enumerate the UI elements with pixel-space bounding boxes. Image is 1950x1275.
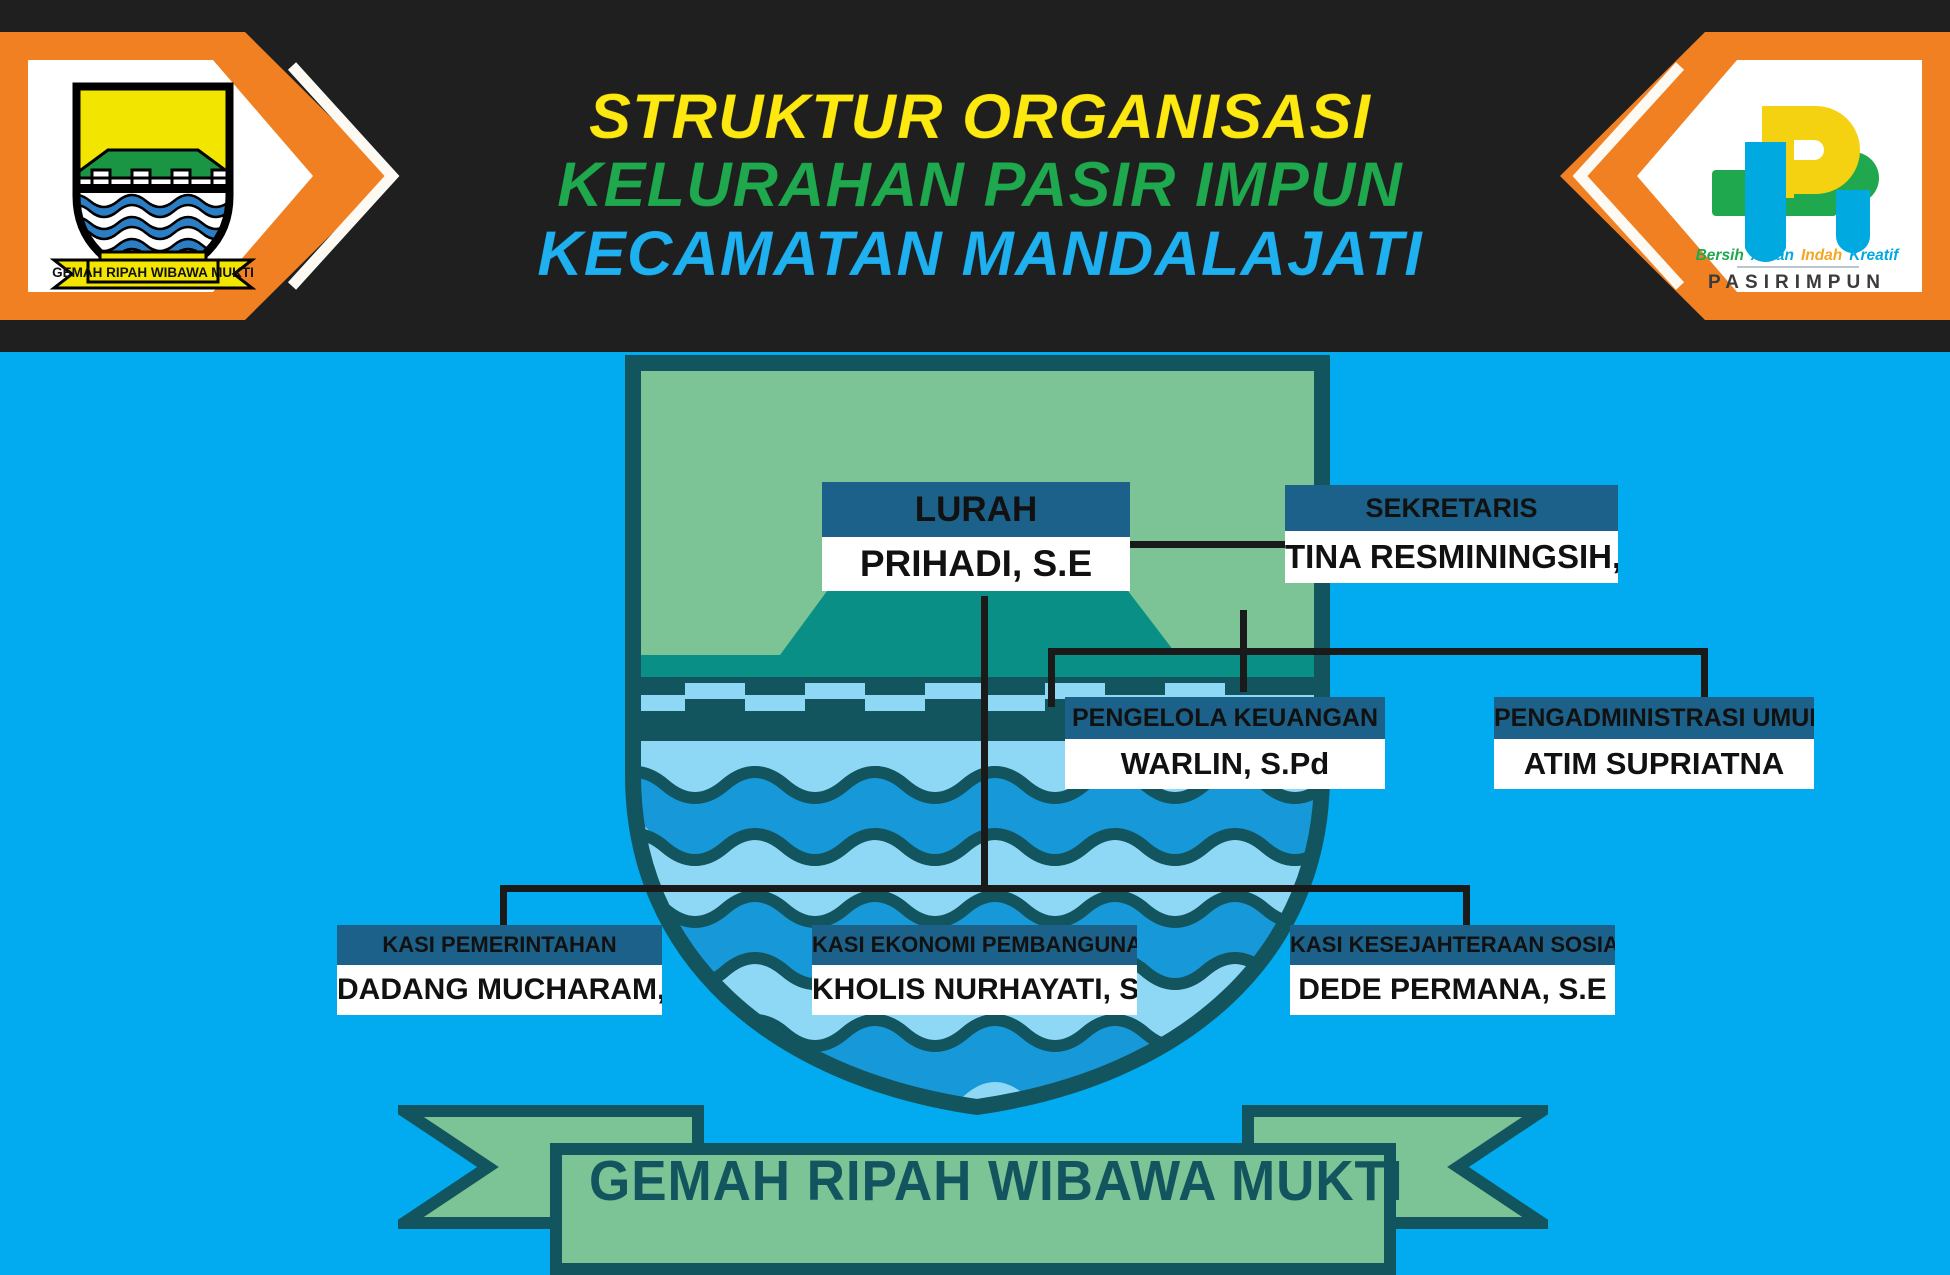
connector-lurah-stem <box>981 596 988 890</box>
org-node-pengelola-keuangan-person: WARLIN, S.Pd <box>1065 739 1385 789</box>
org-node-sekretaris-title: SEKRETARIS <box>1285 485 1618 531</box>
coa-motto-text: GEMAH RIPAH WIBAWA MUKTI <box>52 265 254 280</box>
org-node-pengadministrasi-umum-person: ATIM SUPRIATNA <box>1494 739 1814 789</box>
pasirimpun-tagline-word-1: Bersih <box>1695 247 1745 264</box>
org-node-pengelola-keuangan-title: PENGELOLA KEUANGAN <box>1065 697 1385 739</box>
org-node-kasi-pemerintahan-title: KASI PEMERINTAHAN <box>337 925 662 965</box>
pasirimpun-wordmark: PASIRIMPUN <box>1672 272 1922 294</box>
org-node-kasi-ekonomi-pembangunan[interactable]: KASI EKONOMI PEMBANGUNAN KHOLIS NURHAYAT… <box>812 925 1137 1015</box>
page-title: STRUKTUR ORGANISASI KELURAHAN PASIR IMPU… <box>460 85 1500 286</box>
poster-canvas: LURAH PRIHADI, S.E SEKRETARIS TINA RESMI… <box>0 0 1950 1275</box>
pasirimpun-tagline-word-2: Aman <box>1750 247 1795 264</box>
org-node-lurah-title: LURAH <box>822 482 1130 537</box>
org-node-pengelola-keuangan[interactable]: PENGELOLA KEUANGAN WARLIN, S.Pd <box>1065 697 1385 789</box>
chevron-left-stripe-icon <box>280 60 420 292</box>
org-node-kasi-kesejahteraan-sosial-title: KASI KESEJAHTERAAN SOSIAL <box>1290 925 1615 965</box>
page-title-line1: STRUKTUR ORGANISASI <box>460 85 1500 149</box>
org-node-sekretaris[interactable]: SEKRETARIS TINA RESMININGSIH, S.Sos <box>1285 485 1618 583</box>
page-title-line2: KELURAHAN PASIR IMPUN <box>460 153 1500 217</box>
org-node-lurah[interactable]: LURAH PRIHADI, S.E <box>822 482 1130 591</box>
pasirimpun-tagline: BersihAmanIndahKreatif <box>1672 247 1922 265</box>
org-node-kasi-ekonomi-pembangunan-person: KHOLIS NURHAYATI, S.H <box>812 965 1137 1015</box>
chevron-right-stripe-icon <box>1552 60 1692 292</box>
connector-keuangan-drop <box>1048 648 1055 707</box>
pasirimpun-tagline-word-3: Indah <box>1800 247 1843 264</box>
pasirimpun-divider <box>1737 266 1859 268</box>
org-node-kasi-pemerintahan[interactable]: KASI PEMERINTAHAN DADANG MUCHARAM, S.E <box>337 925 662 1015</box>
pasirimpun-tagline-word-4: Kreatif <box>1848 247 1899 264</box>
org-node-kasi-kesejahteraan-sosial-person: DEDE PERMANA, S.E <box>1290 965 1615 1015</box>
org-node-sekretaris-person: TINA RESMININGSIH, S.Sos <box>1285 531 1618 583</box>
connector-sekretaris-bus <box>1048 648 1708 655</box>
org-node-kasi-pemerintahan-person: DADANG MUCHARAM, S.E <box>337 965 662 1015</box>
org-node-pengadministrasi-umum-title: PENGADMINISTRASI UMUM <box>1494 697 1814 739</box>
org-node-kasi-kesejahteraan-sosial[interactable]: KASI KESEJAHTERAAN SOSIAL DEDE PERMANA, … <box>1290 925 1615 1015</box>
org-node-pengadministrasi-umum[interactable]: PENGADMINISTRASI UMUM ATIM SUPRIATNA <box>1494 697 1814 789</box>
org-node-kasi-ekonomi-pembangunan-title: KASI EKONOMI PEMBANGUNAN <box>812 925 1137 965</box>
org-node-lurah-person: PRIHADI, S.E <box>822 537 1130 591</box>
motto-ribbon-text: GEMAH RIPAH WIBAWA MUKTI <box>589 1148 1361 1214</box>
page-title-line3: KECAMATAN MANDALAJATI <box>460 222 1500 286</box>
bandung-coat-of-arms-icon: GEMAH RIPAH WIBAWA MUKTI <box>48 78 258 293</box>
connector-lurah-sekretaris <box>1130 541 1290 548</box>
poster-header: GEMAH RIPAH WIBAWA MUKTI STRUKTUR ORGANI… <box>0 0 1950 352</box>
connector-kasi-bus <box>500 885 1470 892</box>
